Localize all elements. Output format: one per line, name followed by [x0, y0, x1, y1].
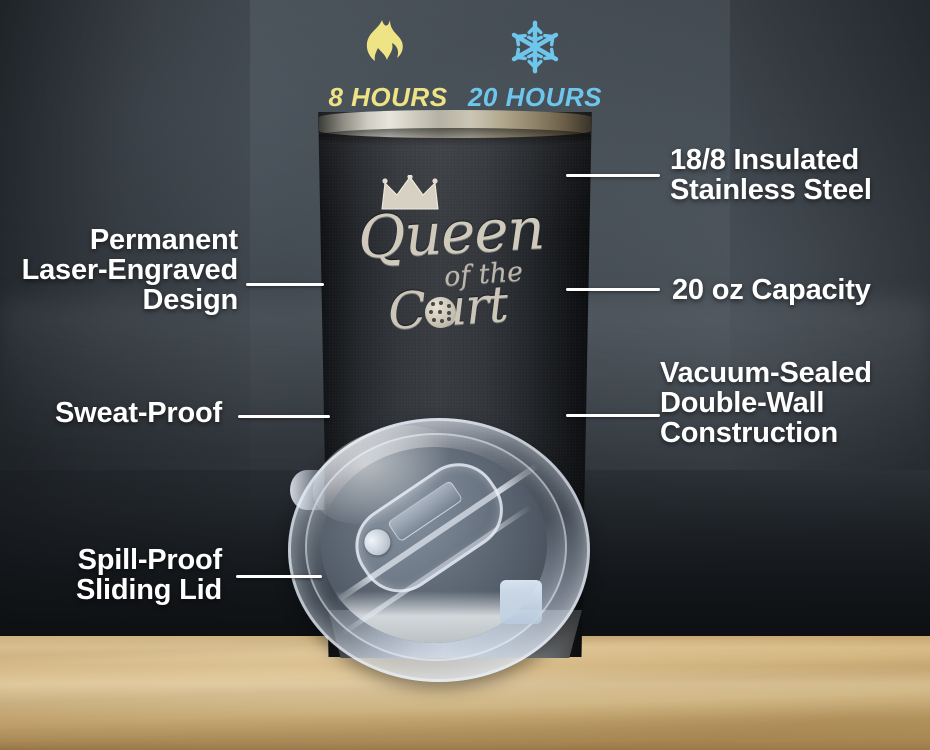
feature-insulated-stainless-steel: 18/8 Insulated Stainless Steel — [670, 145, 872, 205]
leader-line-sliding-lid — [236, 575, 322, 578]
cold-retention-label: 20 HOURS — [468, 82, 602, 113]
cold-retention-block: 20 HOURS — [460, 18, 610, 113]
feature-line: Construction — [660, 418, 872, 448]
leader-line-engraved — [246, 283, 324, 286]
leader-line-sweat-proof — [238, 415, 330, 418]
feature-laser-engraved-design: Permanent Laser-Engraved Design — [0, 225, 238, 315]
sliding-lid — [288, 418, 584, 676]
feature-line: Stainless Steel — [670, 175, 872, 205]
feature-line: Sliding Lid — [0, 575, 222, 605]
feature-line: Spill-Proof — [0, 545, 222, 575]
feature-line: Sweat-Proof — [0, 398, 222, 428]
feature-capacity: 20 oz Capacity — [672, 275, 871, 305]
feature-line: Permanent — [0, 225, 238, 255]
lid-highlight-chip — [500, 580, 542, 624]
leader-line-capacity — [566, 288, 660, 291]
snowflake-icon — [506, 18, 564, 76]
flame-icon — [359, 18, 417, 76]
feature-line: Design — [0, 285, 238, 315]
infographic-canvas: Queen of the C urt 8 HOURS — [0, 0, 930, 750]
feature-line: Double-Wall — [660, 388, 872, 418]
feature-spill-proof-sliding-lid: Spill-Proof Sliding Lid — [0, 545, 222, 605]
footer-bar: Etched in the U.S.A. bevvee™ — [0, 682, 930, 740]
feature-line: 18/8 Insulated — [670, 145, 872, 175]
feature-vacuum-sealed-double-wall: Vacuum-Sealed Double-Wall Construction — [660, 358, 872, 448]
hot-retention-label: 8 HOURS — [328, 82, 447, 113]
hot-retention-block: 8 HOURS — [318, 18, 458, 113]
leader-line-stainless — [566, 174, 660, 177]
feature-line: Laser-Engraved — [0, 255, 238, 285]
feature-line: Vacuum-Sealed — [660, 358, 872, 388]
feature-sweat-proof: Sweat-Proof — [0, 398, 222, 428]
tumbler-rim-shadow — [319, 128, 591, 146]
feature-line: 20 oz Capacity — [672, 275, 871, 305]
leader-line-vacuum — [566, 414, 660, 417]
